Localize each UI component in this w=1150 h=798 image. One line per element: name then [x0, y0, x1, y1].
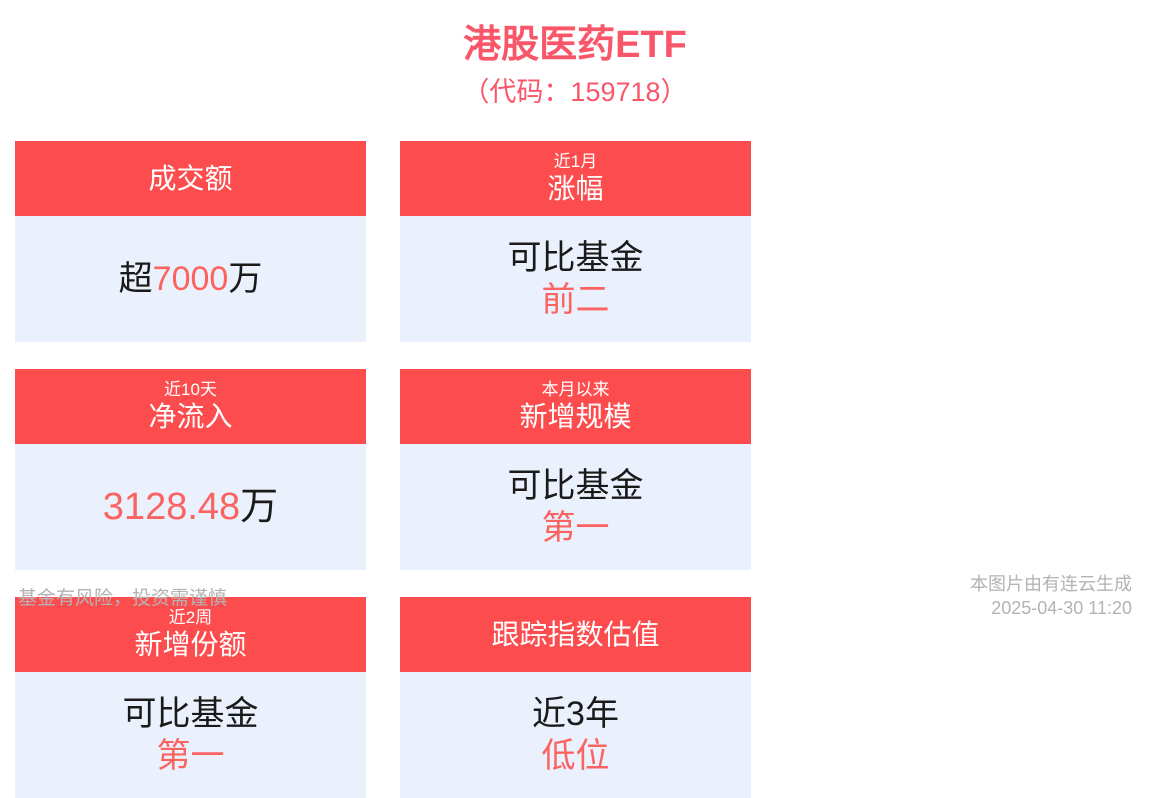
value-number: 3128.48 [103, 486, 240, 528]
card-value-line-1: 可比基金 [123, 693, 259, 735]
card-body: 可比基金 第一 [15, 672, 366, 798]
card-value-line-2: 前二 [542, 279, 610, 321]
value-prefix: 超 [119, 260, 153, 298]
card-body: 近3年 低位 [400, 672, 751, 798]
card-value-line-1: 可比基金 [508, 465, 644, 507]
card-body: 可比基金 第一 [400, 444, 751, 570]
card-value-line-1: 超7000万 [119, 258, 263, 300]
metric-card-turnover: 成交额 超7000万 [15, 141, 366, 342]
card-value-line-2: 低位 [542, 735, 610, 777]
metric-card-net-inflow: 近10天 净流入 3128.48万 [15, 369, 366, 570]
value-unit: 万 [240, 486, 278, 528]
risk-disclaimer: 基金有风险，投资需谨慎 [18, 585, 227, 624]
metric-card-new-shares: 近2周 新增份额 可比基金 第一 [15, 597, 366, 798]
page-footer: 基金有风险，投资需谨慎 本图片由有连云生成 2025-04-30 11:20 [0, 574, 1150, 624]
generation-credit: 本图片由有连云生成 2025-04-30 11:20 [970, 572, 1132, 624]
card-header: 近10天 净流入 [15, 369, 366, 444]
card-header: 本月以来 新增规模 [400, 369, 751, 444]
credit-source: 本图片由有连云生成 [970, 572, 1132, 596]
card-value-line-2: 第一 [542, 507, 610, 549]
card-header-main: 净流入 [148, 400, 232, 434]
card-header-main: 成交额 [148, 162, 232, 196]
page-header: 港股医药ETF （代码：159718） [0, 0, 1150, 110]
credit-timestamp: 2025-04-30 11:20 [970, 596, 1132, 620]
card-body: 可比基金 前二 [400, 216, 751, 342]
card-value-line-1: 近3年 [532, 693, 619, 735]
metric-card-new-scale: 本月以来 新增规模 可比基金 第一 [400, 369, 751, 570]
card-header-sub: 本月以来 [542, 379, 610, 400]
card-value-line-1: 可比基金 [508, 237, 644, 279]
card-body: 3128.48万 [15, 444, 366, 570]
metric-card-monthly-gain: 近1月 涨幅 可比基金 前二 [400, 141, 751, 342]
value-number: 7000 [153, 260, 229, 298]
metric-card-grid: 成交额 超7000万 近1月 涨幅 可比基金 前二 近10天 净流入 3128.… [15, 141, 1135, 798]
card-body: 超7000万 [15, 216, 366, 342]
card-header-main: 新增规模 [519, 400, 631, 434]
page-title: 港股医药ETF [0, 22, 1150, 68]
fund-code-subtitle: （代码：159718） [0, 74, 1150, 110]
card-header: 成交额 [15, 141, 366, 216]
metric-card-index-valuation: 跟踪指数估值 近3年 低位 [400, 597, 751, 798]
card-header-sub: 近1月 [554, 151, 597, 172]
card-value-line-1: 3128.48万 [103, 483, 278, 531]
card-header-main: 新增份额 [134, 628, 246, 662]
card-value-line-2: 第一 [157, 735, 225, 777]
card-header: 近1月 涨幅 [400, 141, 751, 216]
card-header-main: 涨幅 [547, 172, 603, 206]
value-unit: 万 [228, 260, 262, 298]
card-header-sub: 近10天 [164, 379, 217, 400]
